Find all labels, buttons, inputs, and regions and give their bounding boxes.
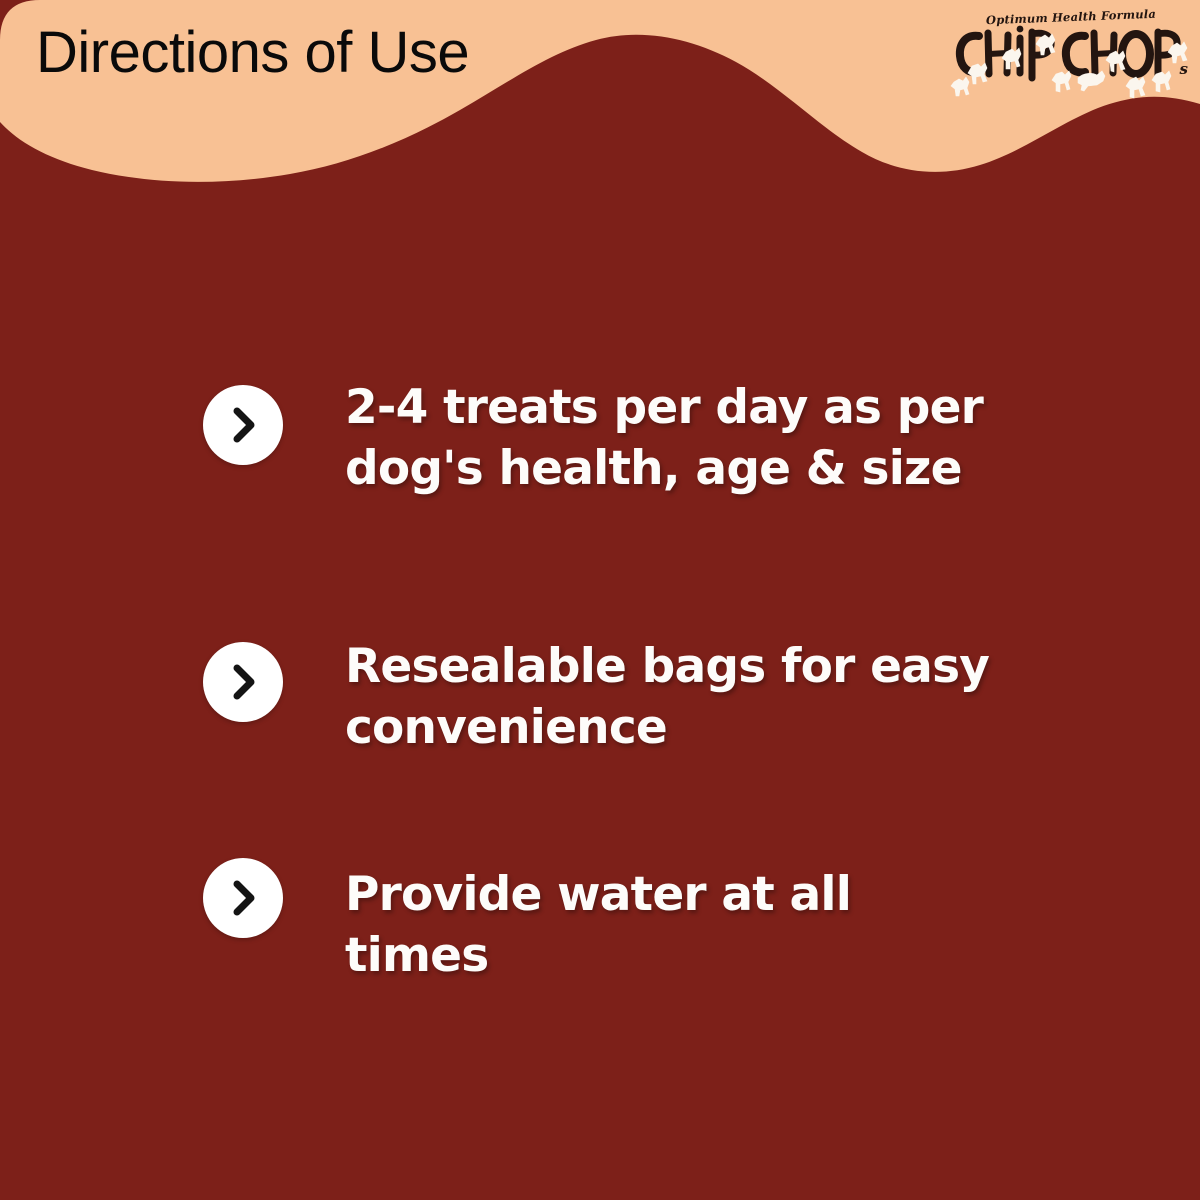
list-item-label: Resealable bags for easy convenience (345, 636, 1005, 758)
chevron-right-icon (203, 642, 283, 722)
chevron-right-icon (203, 858, 283, 938)
chevron-right-icon (203, 385, 283, 465)
list-item-label: Provide water at all times (345, 864, 1005, 986)
directions-list: 2-4 treats per day as per dog's health, … (0, 0, 1200, 1200)
list-item-label: 2-4 treats per day as per dog's health, … (345, 377, 1005, 499)
directions-of-use-panel: Directions of Use Optimum Health Formula (0, 0, 1200, 1200)
